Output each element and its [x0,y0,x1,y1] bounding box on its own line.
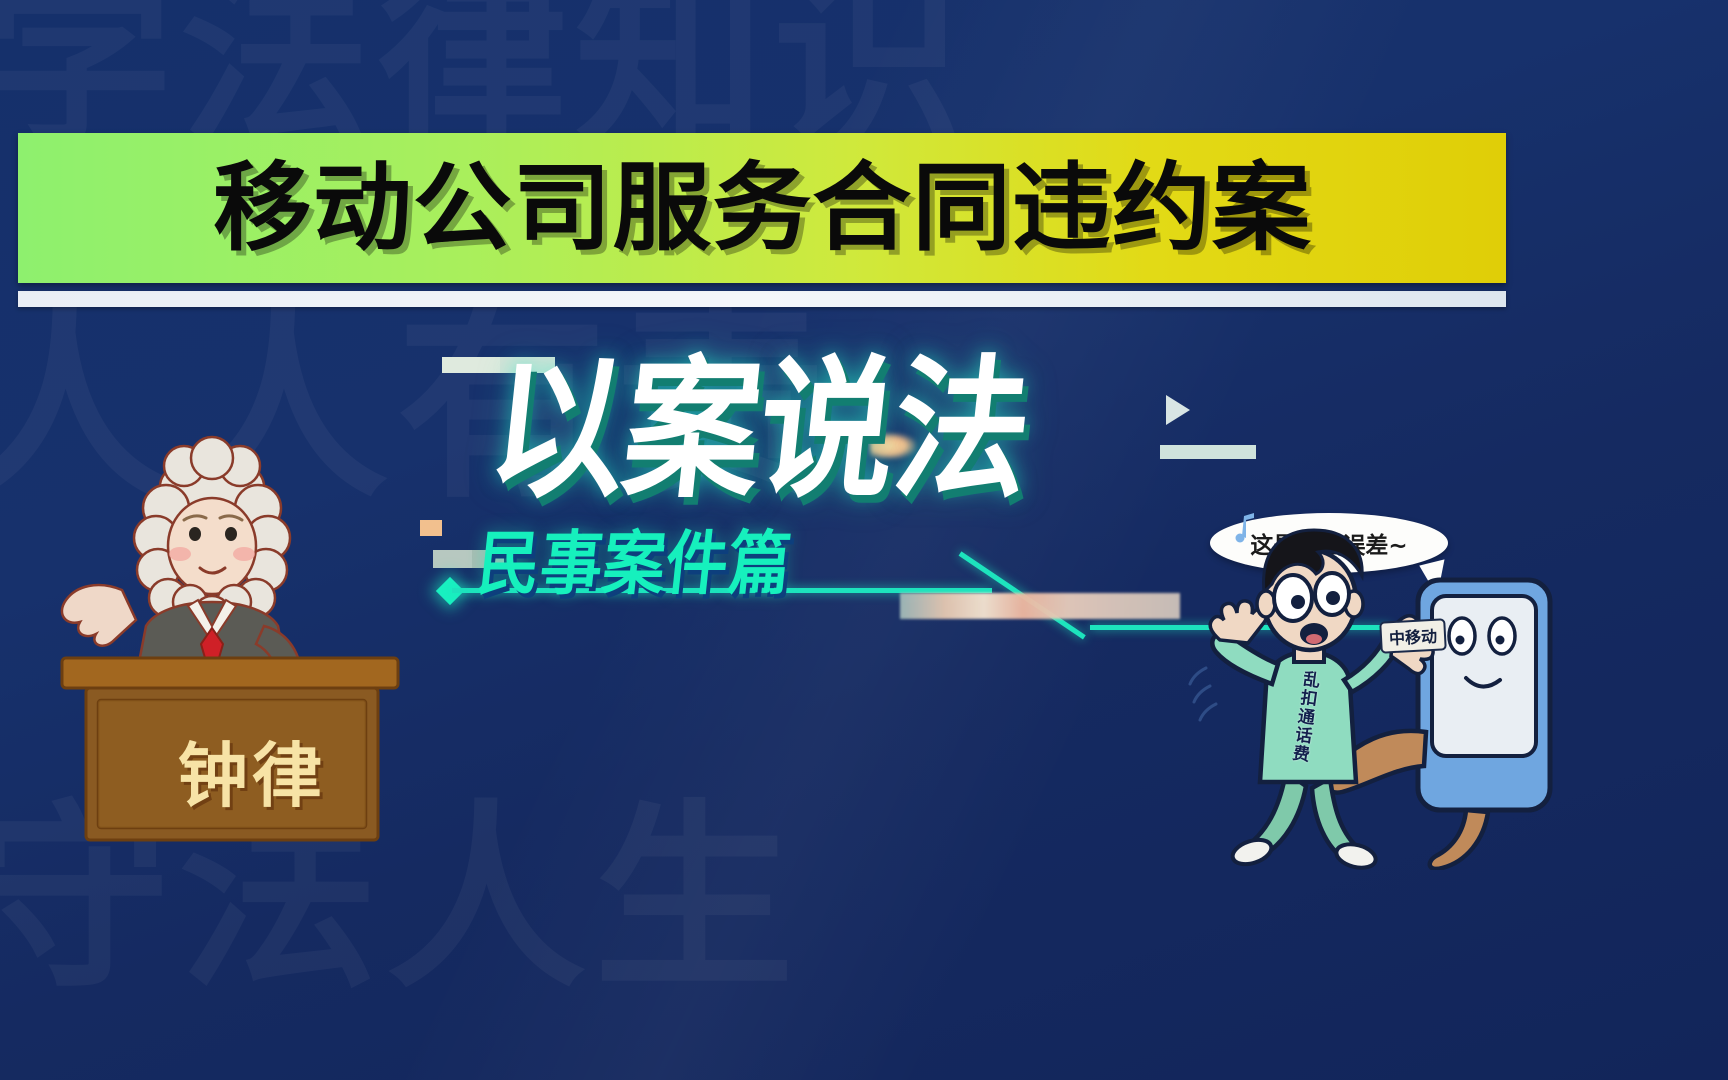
cartoon-illustration: 这是电脑误差~ [1180,500,1600,870]
judge-nameplate: 钟律 [142,720,362,821]
program-logo: 以案说法 民事案件篇 [400,345,1220,645]
logo-main-title: 以案说法 [482,355,1037,507]
judge-illustration: 钟律 [50,430,410,850]
decor-bar-right [1160,445,1256,459]
judge-nameplate-text: 钟律 [178,735,326,817]
cover-canvas: 学法律知识 人人有责 守法人生 移动公司服务合同违约案 以案说法 民事案件篇 [0,0,1728,1080]
decor-block-1 [442,357,500,373]
phone-brand-label: 中移动 [1379,618,1447,653]
case-title: 移动公司服务合同违约案 [213,160,1312,256]
title-banner-underline [18,291,1506,307]
title-banner: 移动公司服务合同违约案 [18,133,1506,307]
decor-block-3 [420,520,442,536]
decor-peach-bar [900,593,1180,619]
cartoon-svg [1180,500,1600,870]
play-triangle-icon [1166,395,1190,425]
logo-subtitle: 民事案件篇 [474,529,794,598]
title-banner-bar: 移动公司服务合同违约案 [18,133,1506,283]
